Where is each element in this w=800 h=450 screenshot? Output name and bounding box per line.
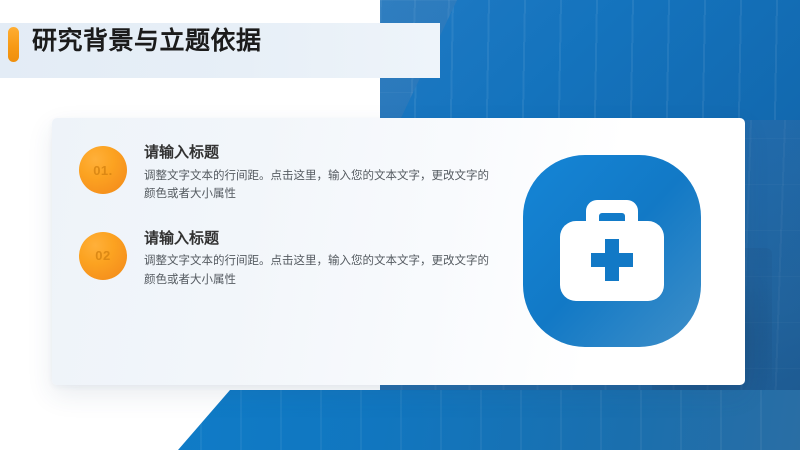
- item-number-label: 02: [95, 248, 110, 263]
- slide-canvas: 研究背景与立题依据 01. 请输入标题 调整文字文本的行间距。点击这里，输入您的…: [0, 0, 800, 450]
- item-number-badge: 01.: [79, 146, 127, 194]
- list-item[interactable]: 02 请输入标题 调整文字文本的行间距。点击这里，输入您的文本文字，更改文字的颜…: [79, 226, 499, 290]
- item-body: 调整文字文本的行间距。点击这里，输入您的文本文字，更改文字的颜色或者大小属性: [144, 252, 489, 289]
- item-body: 调整文字文本的行间距。点击这里，输入您的文本文字，更改文字的颜色或者大小属性: [144, 167, 489, 204]
- item-text-block: 请输入标题 调整文字文本的行间距。点击这里，输入您的文本文字，更改文字的颜色或者…: [144, 140, 489, 204]
- item-text-block: 请输入标题 调整文字文本的行间距。点击这里，输入您的文本文字，更改文字的颜色或者…: [144, 226, 489, 290]
- orange-accent-bar-icon: [8, 27, 19, 62]
- item-number-label: 01.: [93, 163, 113, 178]
- page-title: 研究背景与立题依据: [32, 25, 262, 58]
- bottom-band-texture: [160, 390, 800, 450]
- bottom-blue-band: [160, 390, 800, 450]
- list-item[interactable]: 01. 请输入标题 调整文字文本的行间距。点击这里，输入您的文本文字，更改文字的…: [79, 140, 499, 204]
- content-list: 01. 请输入标题 调整文字文本的行间距。点击这里，输入您的文本文字，更改文字的…: [79, 140, 499, 312]
- title-group: 研究背景与立题依据: [8, 25, 338, 62]
- item-title: 请输入标题: [144, 142, 489, 165]
- medical-kit-icon: [523, 155, 701, 347]
- item-title: 请输入标题: [144, 228, 489, 251]
- content-card: 01. 请输入标题 调整文字文本的行间距。点击这里，输入您的文本文字，更改文字的…: [52, 118, 745, 385]
- item-number-badge: 02: [79, 232, 127, 280]
